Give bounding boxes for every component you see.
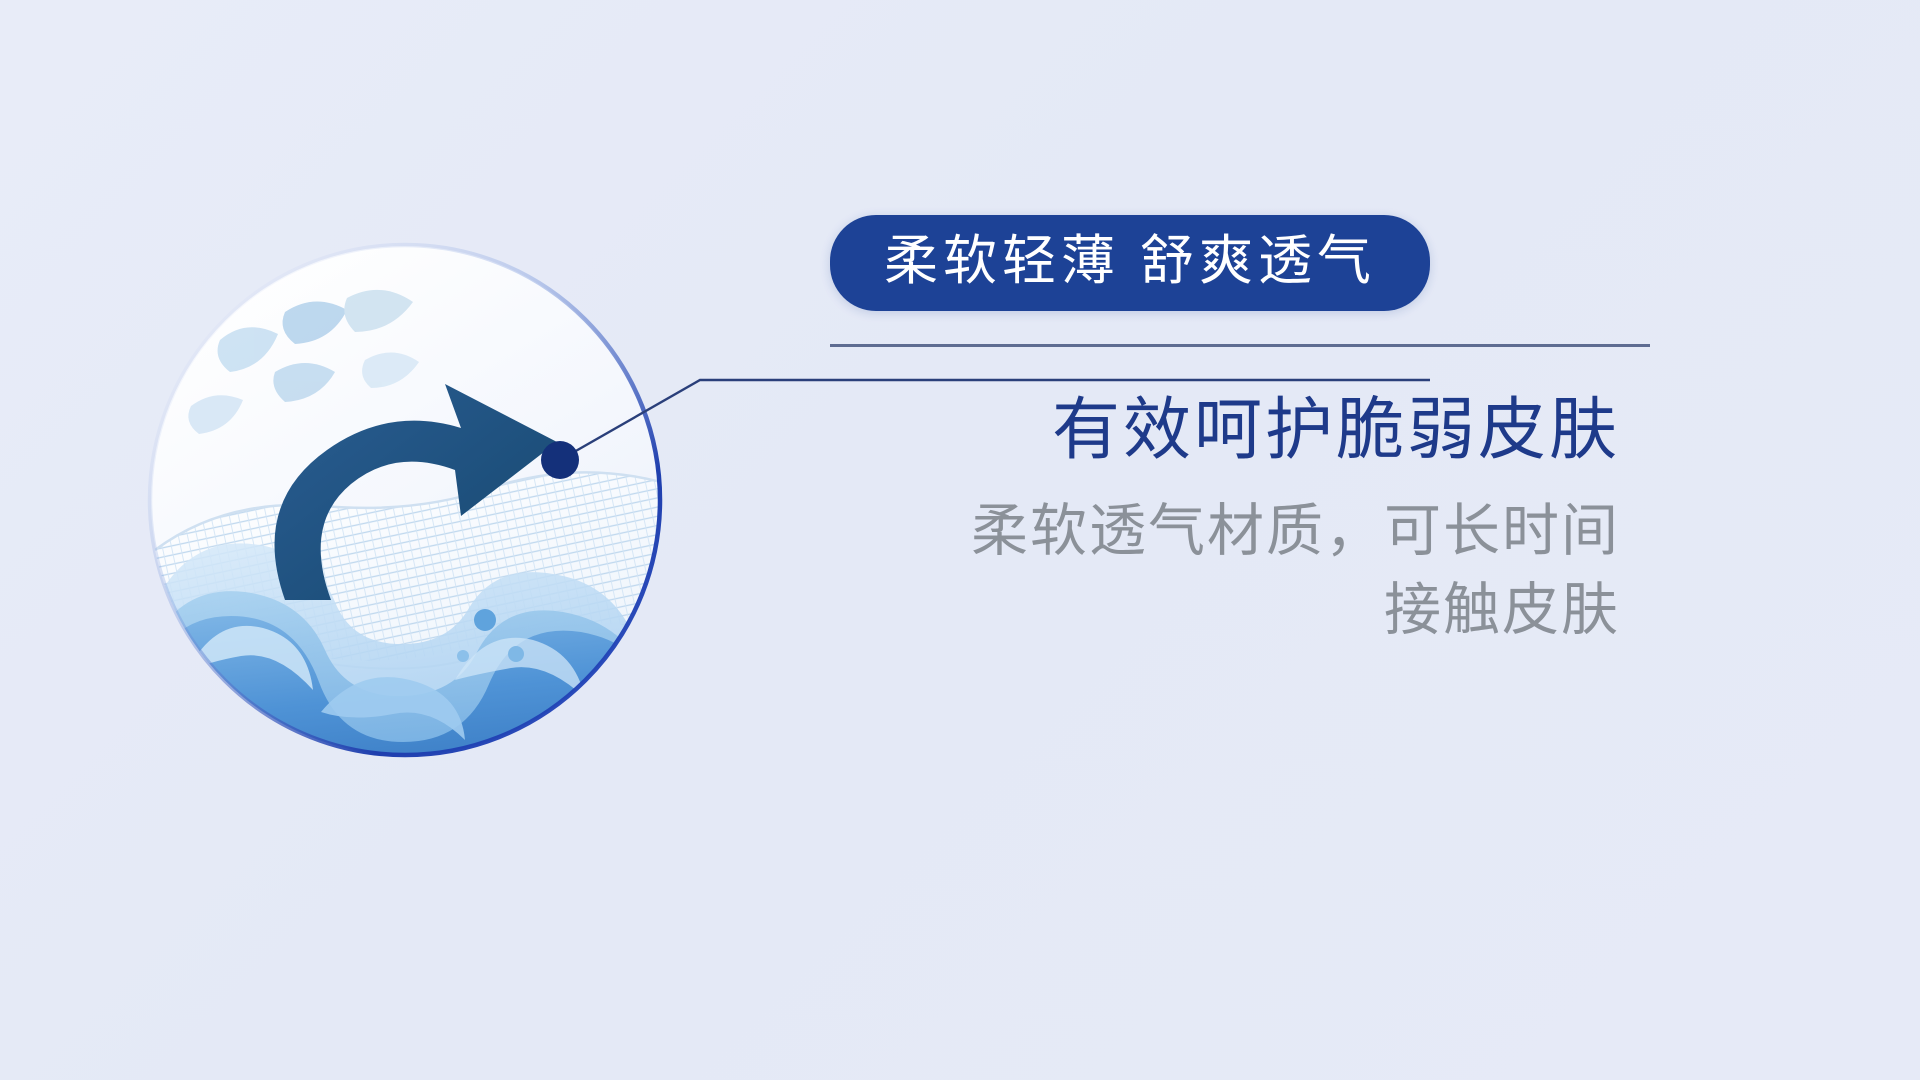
headline: 有效呵护脆弱皮肤 — [830, 395, 1620, 466]
circle-frame — [125, 220, 685, 780]
subtitle-line-1: 柔软透气材质，可长时间 — [830, 492, 1620, 571]
divider — [830, 344, 1650, 347]
product-illustration — [95, 190, 715, 790]
product-feature-banner: 柔软轻薄 舒爽透气 有效呵护脆弱皮肤 柔软透气材质，可长时间 接触皮肤 — [0, 0, 1920, 1080]
subtitle-line-2: 接触皮肤 — [830, 571, 1620, 650]
text-column: 柔软轻薄 舒爽透气 有效呵护脆弱皮肤 柔软透气材质，可长时间 接触皮肤 — [830, 215, 1760, 775]
subtitle: 柔软透气材质，可长时间 接触皮肤 — [830, 492, 1620, 649]
feature-badge: 柔软轻薄 舒爽透气 — [830, 215, 1430, 311]
